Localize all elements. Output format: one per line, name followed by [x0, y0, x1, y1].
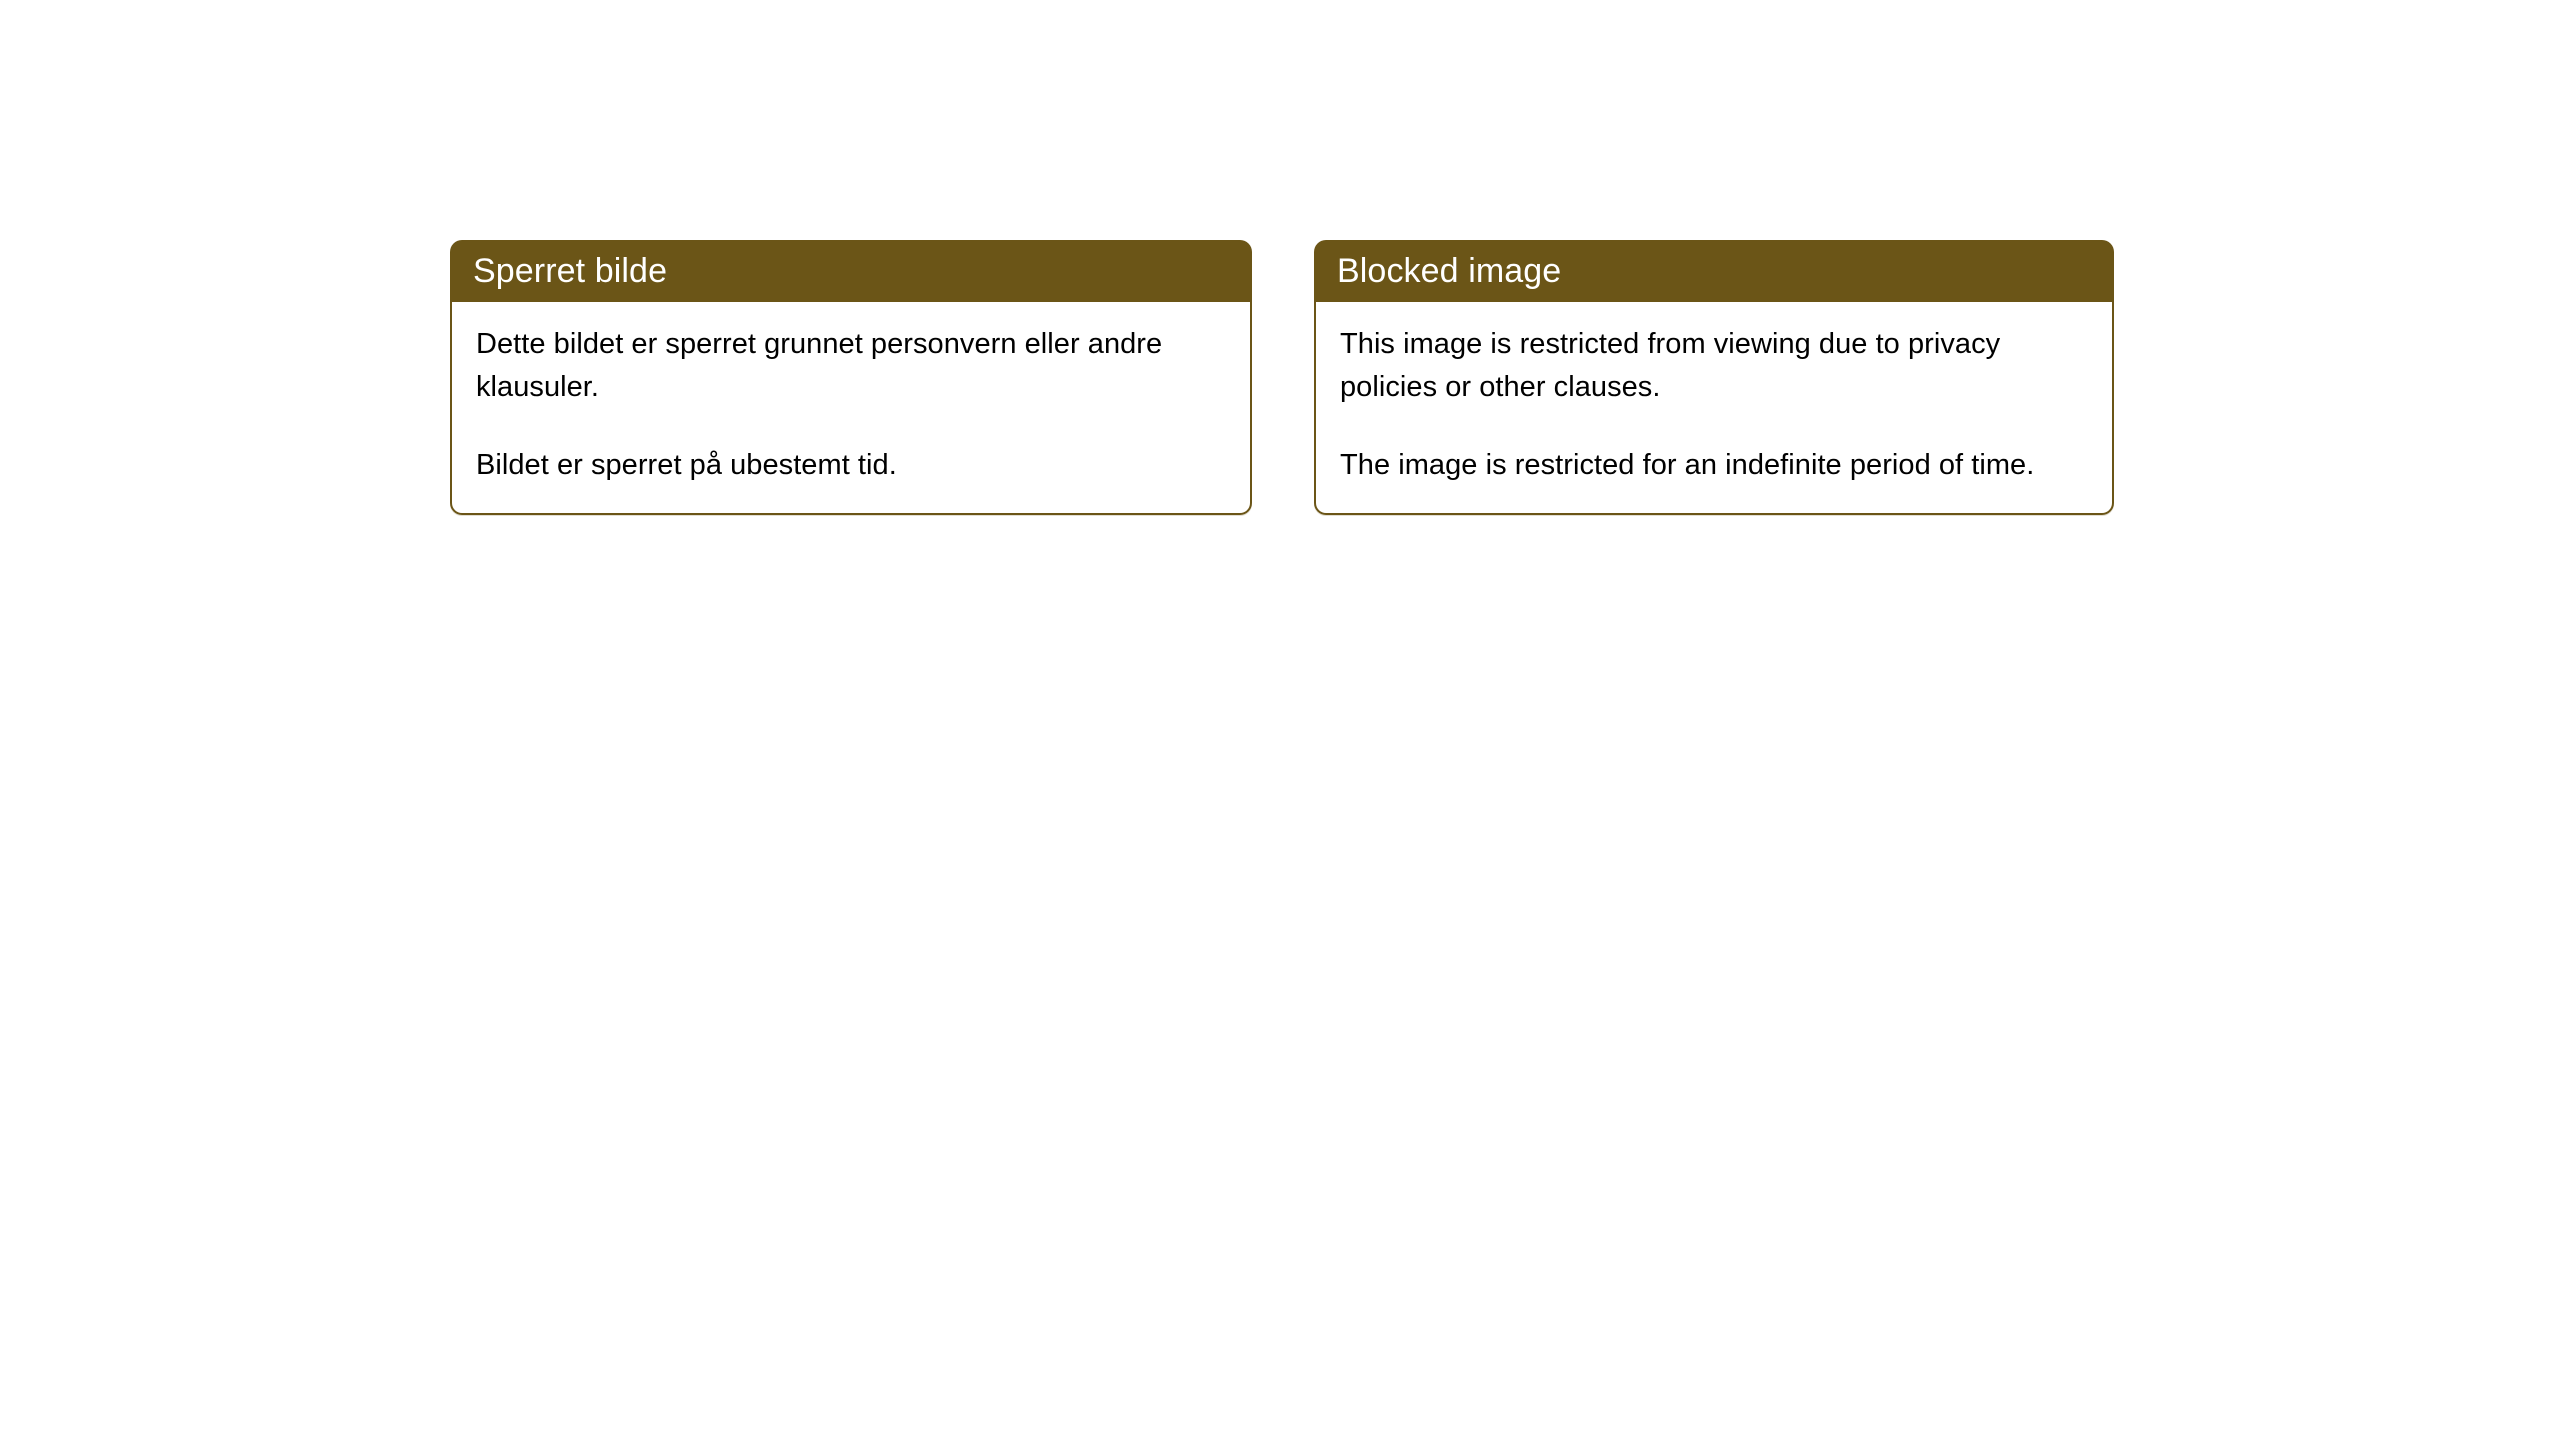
- paragraph-spacer: [1340, 409, 2088, 444]
- blocked-image-card-norwegian: Sperret bilde Dette bildet er sperret gr…: [450, 240, 1252, 515]
- card-body-norwegian: Dette bildet er sperret grunnet personve…: [450, 301, 1252, 515]
- card-title-norwegian: Sperret bilde: [473, 251, 667, 291]
- card-paragraph-duration-english: The image is restricted for an indefinit…: [1340, 444, 2088, 487]
- card-paragraph-privacy-norwegian: Dette bildet er sperret grunnet personve…: [476, 323, 1226, 409]
- page-root: Sperret bilde Dette bildet er sperret gr…: [0, 0, 2560, 1440]
- paragraph-spacer: [476, 409, 1226, 444]
- blocked-image-notice-row: Sperret bilde Dette bildet er sperret gr…: [450, 240, 2114, 515]
- card-paragraph-duration-norwegian: Bildet er sperret på ubestemt tid.: [476, 444, 1226, 487]
- card-header-norwegian: Sperret bilde: [450, 240, 1252, 302]
- card-paragraph-privacy-english: This image is restricted from viewing du…: [1340, 323, 2088, 409]
- card-header-english: Blocked image: [1314, 240, 2114, 302]
- card-body-english: This image is restricted from viewing du…: [1314, 301, 2114, 515]
- card-title-english: Blocked image: [1337, 251, 1561, 291]
- blocked-image-card-english: Blocked image This image is restricted f…: [1314, 240, 2114, 515]
